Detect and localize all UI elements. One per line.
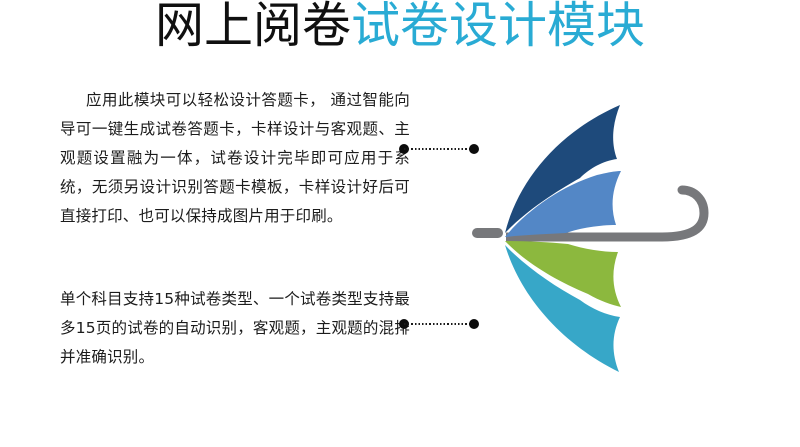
description-paragraph-1: 应用此模块可以轻松设计答题卡， 通过智能向导可一键生成试卷答题卡，卡样设计与客观… xyxy=(60,86,410,231)
page-title: 网上阅卷试卷设计模块 xyxy=(0,0,800,54)
page-title-accent: 试卷设计模块 xyxy=(351,0,645,54)
umbrella-illustration xyxy=(440,85,760,385)
page-title-primary: 网上阅卷 xyxy=(155,0,351,54)
description-paragraph-2: 单个科目支持15种试卷类型、一个试卷类型支持最多15页的试卷的自动识别，客观题，… xyxy=(60,285,410,372)
slide-canvas: 网上阅卷试卷设计模块 应用此模块可以轻松设计答题卡， 通过智能向导可一键生成试卷… xyxy=(0,0,800,447)
